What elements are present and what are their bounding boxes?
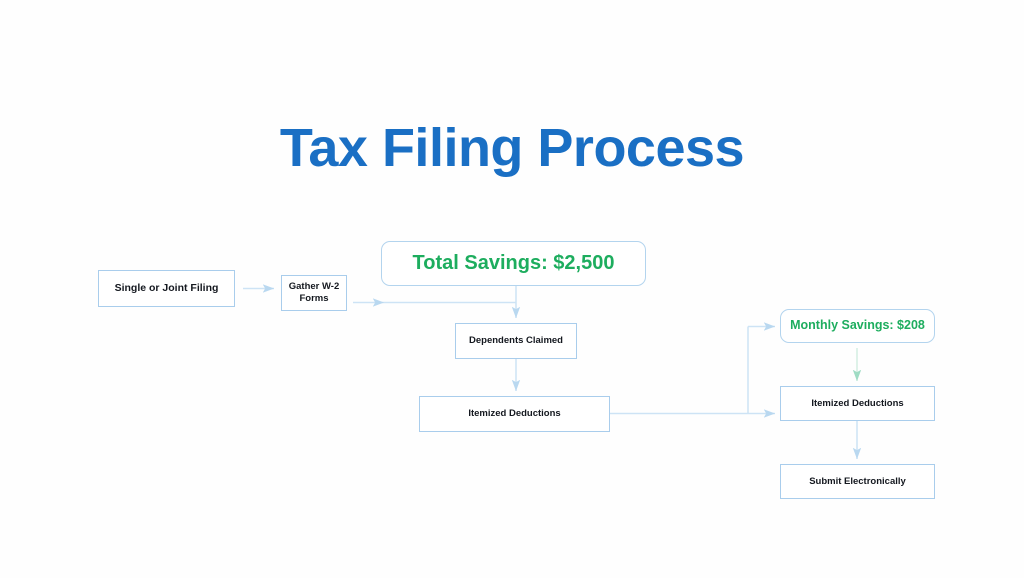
node-label: Total Savings: $2,500 xyxy=(413,251,615,275)
node-label: Dependents Claimed xyxy=(469,335,563,347)
node-dependents-claimed[interactable]: Dependents Claimed xyxy=(455,323,577,359)
node-total-savings[interactable]: Total Savings: $2,500 xyxy=(381,241,646,286)
node-gather-w2-forms[interactable]: Gather W-2 Forms xyxy=(281,275,347,311)
node-label: Single or Joint Filing xyxy=(115,282,219,295)
node-submit-electronically[interactable]: Submit Electronically xyxy=(780,464,935,499)
node-label: Monthly Savings: $208 xyxy=(790,318,925,333)
node-itemized-deductions-right[interactable]: Itemized Deductions xyxy=(780,386,935,421)
diagram-canvas: Tax Filing Process Singl xyxy=(0,0,1024,578)
node-monthly-savings[interactable]: Monthly Savings: $208 xyxy=(780,309,935,343)
node-label: Itemized Deductions xyxy=(468,408,560,420)
node-label: Gather W-2 Forms xyxy=(282,281,346,304)
node-single-or-joint-filing[interactable]: Single or Joint Filing xyxy=(98,270,235,307)
node-label: Submit Electronically xyxy=(809,476,906,488)
node-itemized-deductions-center[interactable]: Itemized Deductions xyxy=(419,396,610,432)
node-label: Itemized Deductions xyxy=(811,398,903,410)
page-title: Tax Filing Process xyxy=(0,117,1024,179)
